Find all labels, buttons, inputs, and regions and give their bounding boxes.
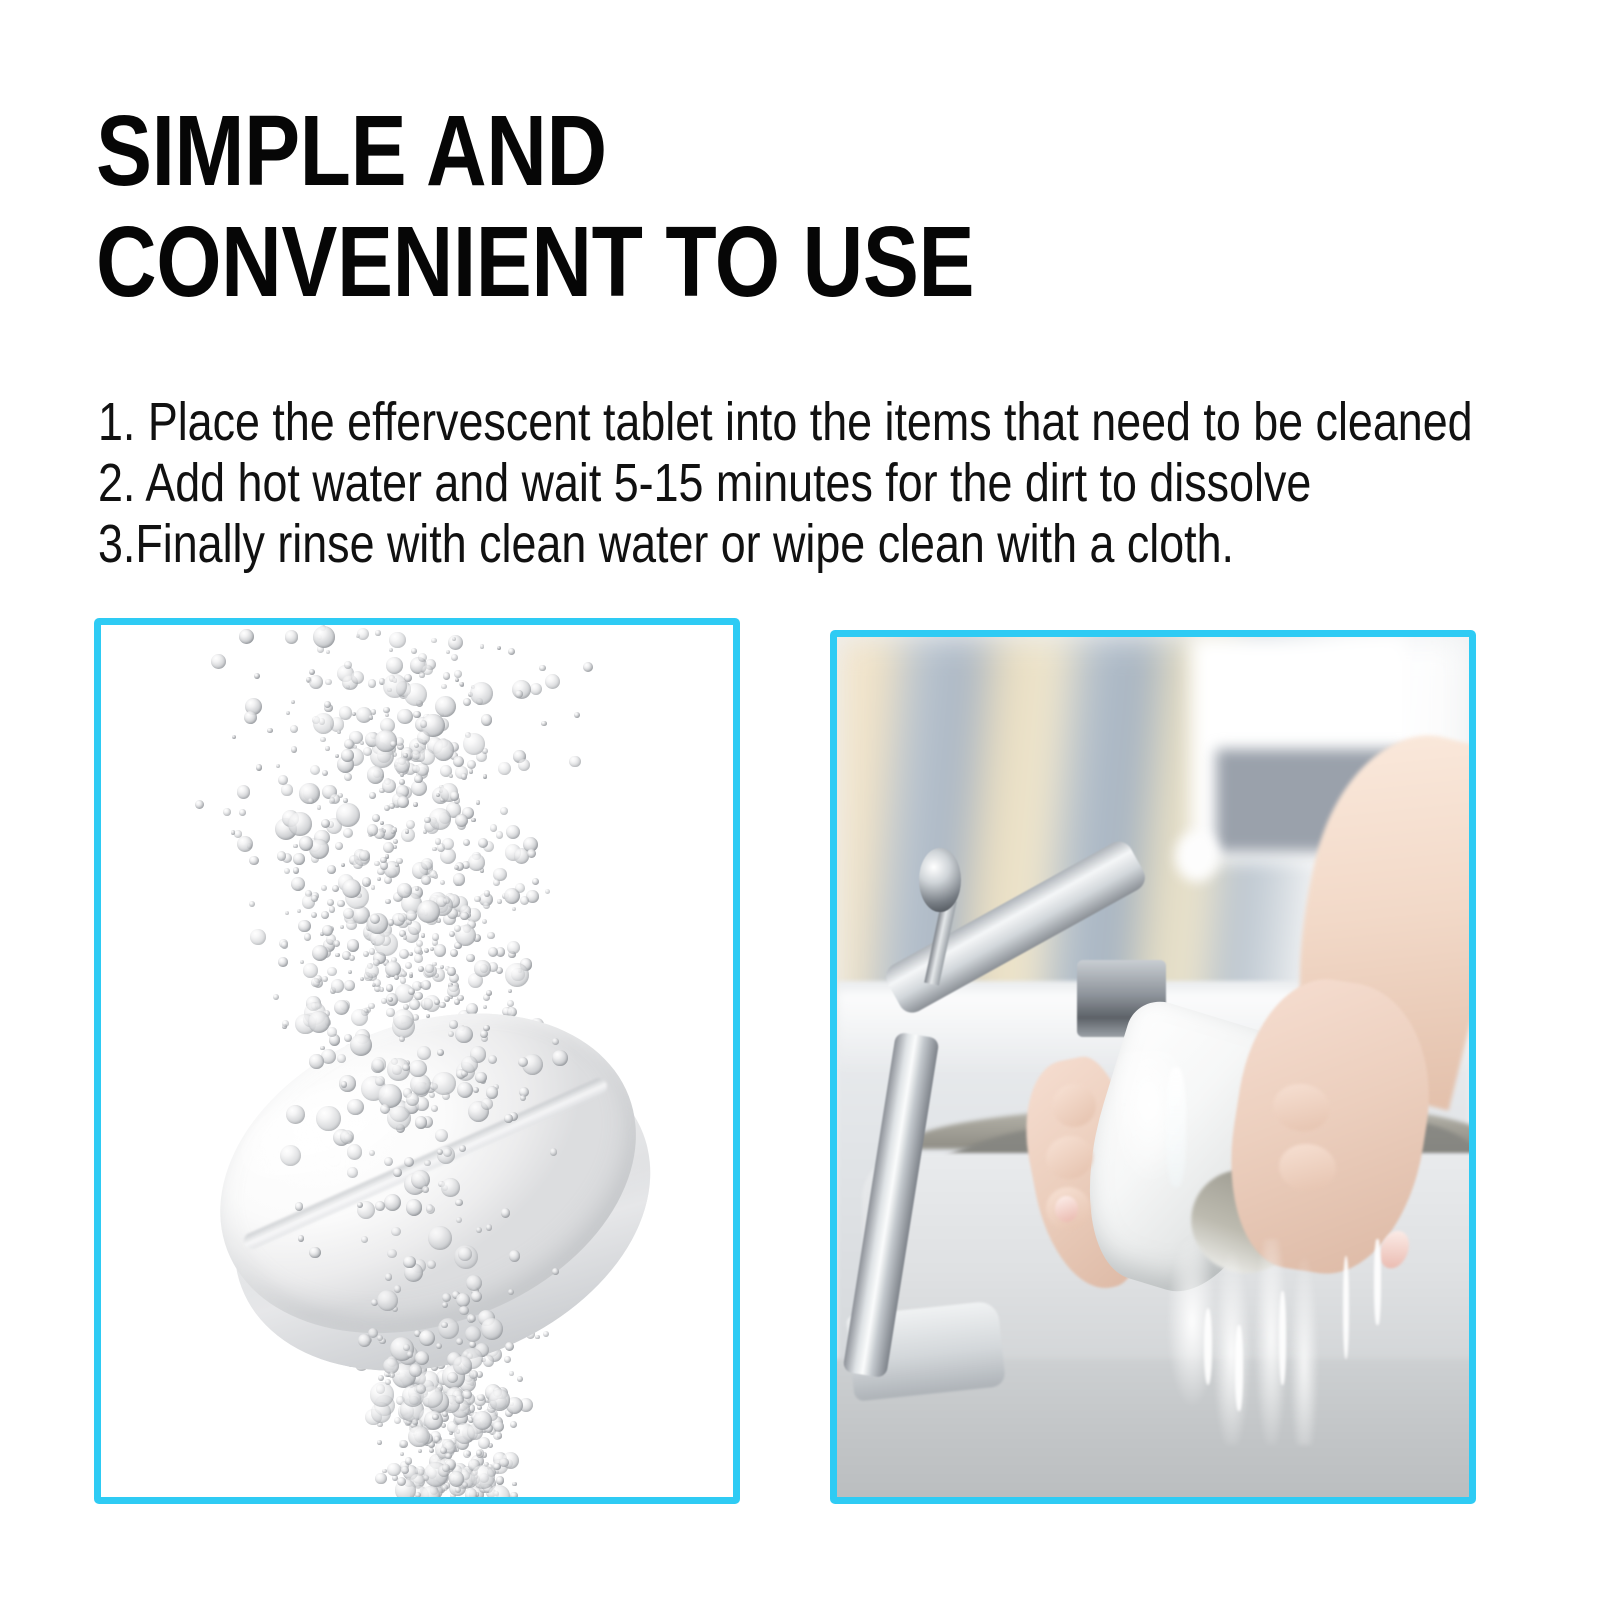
bubble [321, 885, 327, 891]
bubble [432, 933, 439, 940]
bubble [404, 1157, 414, 1167]
bubble [504, 1114, 513, 1123]
instruction-step-3: 3.Finally rinse with clean water or wipe… [98, 514, 1277, 575]
bubble [327, 865, 336, 874]
bubble [424, 817, 430, 823]
bubble [486, 1086, 498, 1098]
bubble [403, 1344, 410, 1351]
bubble [508, 1289, 514, 1295]
bubble [424, 1160, 430, 1166]
bubble [389, 803, 395, 809]
bubble [414, 992, 423, 1001]
bubble [574, 712, 580, 718]
bubble [391, 1227, 400, 1236]
bubble [476, 1450, 482, 1456]
bubble [441, 1178, 459, 1196]
bubble [550, 1148, 558, 1156]
bubble [481, 1318, 503, 1340]
bubble [449, 1020, 457, 1028]
bubble [254, 673, 260, 679]
bubble [520, 1095, 526, 1101]
bubble [384, 1194, 401, 1211]
bubble [426, 1205, 435, 1214]
bubble [496, 831, 504, 839]
bubble [481, 1098, 493, 1110]
bubble [456, 1338, 463, 1345]
bubble [378, 1375, 384, 1381]
bubble [455, 1199, 462, 1206]
bubble [278, 775, 288, 785]
image-panel-effervescent-tablet [94, 618, 740, 1504]
bubble [435, 1129, 448, 1142]
bubble [461, 1056, 478, 1073]
bubble [422, 1186, 429, 1193]
bubble [291, 877, 305, 891]
bubble [431, 1105, 438, 1112]
bubble [442, 838, 454, 850]
bubble [505, 1342, 514, 1351]
bubble [442, 1464, 450, 1472]
bubble [358, 1334, 371, 1347]
bubble [385, 1273, 392, 1280]
bubble [394, 1417, 401, 1424]
bubble [298, 1235, 304, 1241]
bubble [340, 1130, 354, 1144]
bubble [415, 1351, 429, 1365]
bubble [405, 1457, 413, 1465]
bubble [237, 836, 253, 852]
bubble [480, 1030, 488, 1038]
bubble [403, 1256, 416, 1269]
bubble [539, 665, 545, 671]
bubble-field-front [101, 625, 733, 1497]
bubble [459, 1306, 468, 1315]
bubble [409, 1364, 422, 1377]
bubble [422, 665, 433, 676]
bubble [290, 725, 298, 733]
bubble [394, 1285, 402, 1293]
bubble [488, 947, 498, 957]
bubble [311, 978, 320, 987]
bubble [448, 1031, 454, 1037]
bubble [374, 932, 398, 956]
product-infographic-page: SIMPLE AND CONVENIENT TO USE 1. Place th… [0, 0, 1600, 1600]
bubble [415, 1116, 427, 1128]
bubble [380, 857, 386, 863]
water-drip-4 [1343, 1256, 1349, 1359]
bubble [325, 679, 332, 686]
bubble [341, 1081, 347, 1087]
bubble [506, 825, 520, 839]
bubble [469, 1315, 475, 1321]
bubble [295, 1202, 303, 1210]
bubble [284, 868, 290, 874]
bubble [442, 1302, 448, 1308]
bubble [337, 900, 344, 907]
bubble [462, 1482, 468, 1488]
bubble [520, 896, 530, 906]
bubble [488, 1485, 510, 1497]
bubble [476, 1227, 482, 1233]
bubble [308, 1011, 330, 1033]
fingernail-1 [1055, 1196, 1078, 1222]
bubble [493, 1431, 502, 1440]
page-title: SIMPLE AND CONVENIENT TO USE [96, 96, 1188, 318]
bubble [311, 895, 318, 902]
bubble [490, 824, 497, 831]
bubble [463, 1450, 471, 1458]
bubble [370, 1382, 395, 1407]
bubble [441, 1322, 448, 1329]
bubble [463, 733, 485, 755]
bubble [432, 1414, 438, 1420]
bubble [390, 741, 397, 748]
bubble [393, 1168, 402, 1177]
bubble [308, 798, 314, 804]
bubble [442, 1411, 448, 1417]
bubble [437, 1049, 444, 1056]
bubble [347, 1167, 358, 1178]
bubble [442, 1293, 451, 1302]
bubble [388, 919, 394, 925]
bubble [435, 696, 456, 717]
bubble [404, 683, 427, 706]
bubble [552, 1038, 559, 1045]
faucet-water-stream [1166, 1067, 1186, 1187]
instruction-step-2: 2. Add hot water and wait 5-15 minutes f… [98, 453, 1277, 514]
bubble [473, 1087, 479, 1093]
bubble [298, 920, 310, 932]
bubble [453, 756, 464, 767]
bubble [359, 850, 370, 861]
effervescent-tablet-illustration [101, 625, 733, 1497]
bubble [211, 654, 226, 669]
bubble [552, 1268, 558, 1274]
bubble [309, 1247, 321, 1259]
bubble [463, 839, 470, 846]
bubble [414, 954, 423, 963]
bubble [417, 731, 430, 744]
bubble [505, 963, 529, 987]
bubble [436, 1343, 442, 1349]
bubble [471, 1465, 494, 1488]
bubble [367, 824, 378, 835]
bubble [293, 867, 300, 874]
bubble [444, 996, 450, 1002]
bubble [401, 1466, 409, 1474]
bubble [437, 1149, 443, 1155]
bubble [447, 985, 459, 997]
bubble [336, 803, 360, 827]
bubble [552, 1050, 568, 1066]
bubble [501, 1208, 511, 1218]
bubble [477, 1394, 485, 1402]
bubble [409, 1060, 427, 1078]
bubble [406, 910, 417, 921]
bubble [420, 720, 428, 728]
bubble [410, 1074, 431, 1095]
bubble [488, 1055, 497, 1064]
bubble [510, 1421, 517, 1428]
bubble [369, 792, 376, 799]
bubble [310, 765, 320, 775]
bubble [347, 1144, 363, 1160]
bubble [438, 1318, 459, 1339]
bubble [337, 1054, 346, 1063]
bubble [397, 709, 412, 724]
bubble [515, 690, 523, 698]
bubble [450, 791, 459, 800]
bubble [417, 1046, 431, 1060]
bubble [285, 630, 299, 644]
bubble [543, 1331, 549, 1337]
bubble [509, 1250, 521, 1262]
bubble [443, 898, 449, 904]
bubble [375, 1076, 384, 1085]
instruction-list: 1. Place the effervescent tablet into th… [98, 392, 1277, 575]
bubble [465, 1326, 481, 1342]
bubble [309, 1054, 324, 1069]
bubble [398, 913, 407, 922]
bubble [408, 1426, 429, 1447]
bubble [433, 739, 454, 760]
bubble [277, 851, 286, 860]
bubble [458, 1247, 471, 1260]
bubble [372, 1057, 386, 1071]
bubble [429, 808, 451, 830]
instruction-step-1: 1. Place the effervescent tablet into th… [98, 392, 1277, 453]
bubble [456, 1217, 462, 1223]
bubble [489, 1389, 510, 1410]
bubble [387, 1106, 411, 1130]
bubble [368, 679, 376, 687]
bubble [527, 849, 536, 858]
bubble [327, 967, 337, 977]
bubble [455, 814, 469, 828]
bubble [515, 883, 525, 893]
bubble [459, 1145, 466, 1152]
bubble [342, 879, 361, 898]
bubble [429, 1092, 435, 1098]
bubble [445, 1453, 451, 1459]
bubble [349, 955, 355, 961]
bubble [484, 890, 490, 896]
bubble [407, 1351, 413, 1357]
bubble [399, 1036, 405, 1042]
bubble [341, 749, 353, 761]
bubble [432, 1072, 456, 1096]
bubble [397, 883, 412, 898]
bubble [468, 854, 485, 871]
bubble [351, 671, 364, 684]
bubble [447, 1372, 458, 1383]
bubble [375, 1201, 385, 1211]
bubble [474, 896, 480, 902]
bubble [427, 1260, 436, 1269]
bubble [363, 951, 369, 957]
bubble [455, 1026, 472, 1043]
bubble [327, 899, 334, 906]
bubble [421, 980, 431, 990]
bubble [383, 674, 407, 698]
bubble [273, 994, 279, 1000]
bubble [369, 1150, 376, 1157]
water-drip-5 [1374, 1239, 1380, 1325]
bubble [414, 775, 422, 783]
bubble [412, 1419, 418, 1425]
bubble [249, 901, 255, 907]
faucet-handle-knob [919, 848, 961, 913]
bubble [313, 626, 335, 648]
bubble [483, 1025, 489, 1031]
blurred-white-object [1175, 831, 1219, 883]
bubble [365, 964, 379, 978]
bubble [387, 1249, 397, 1259]
bubble [250, 929, 266, 945]
bubble [322, 925, 333, 936]
bubble [475, 1072, 487, 1084]
bubble [500, 807, 508, 815]
bubble [532, 878, 539, 885]
bubble [457, 1082, 473, 1098]
bubble [278, 957, 288, 967]
bubble [406, 1199, 423, 1216]
kitchen-scene-photo [837, 637, 1469, 1497]
bubble [474, 960, 490, 976]
bubble [316, 1106, 341, 1131]
bubble [286, 1105, 306, 1125]
bubble [367, 766, 385, 784]
bubble [322, 770, 328, 776]
bubble [195, 800, 204, 809]
bubble [471, 1291, 482, 1302]
bubble [313, 713, 334, 734]
image-panel-rinsing-mug [830, 630, 1476, 1504]
bubble [394, 757, 410, 773]
bubble [280, 1145, 301, 1166]
bubble [499, 1458, 508, 1467]
bubble [281, 941, 289, 949]
bubble [288, 812, 312, 836]
bubble [470, 682, 493, 705]
bubble [466, 1275, 482, 1291]
bubble [454, 670, 462, 678]
bubble [299, 836, 313, 850]
bubble [439, 1002, 446, 1009]
bubble [350, 1034, 372, 1056]
bubble [384, 1157, 393, 1166]
bubble [361, 1236, 368, 1243]
bubble [385, 1379, 391, 1385]
bubble [428, 1226, 452, 1250]
bubble [417, 900, 440, 923]
bubble [347, 1099, 364, 1116]
bubble [370, 914, 380, 924]
water-drip-2 [1235, 1325, 1243, 1411]
bubble [419, 1330, 435, 1346]
bubble [486, 1224, 493, 1231]
bubble [368, 1003, 374, 1009]
bubble [421, 875, 431, 885]
